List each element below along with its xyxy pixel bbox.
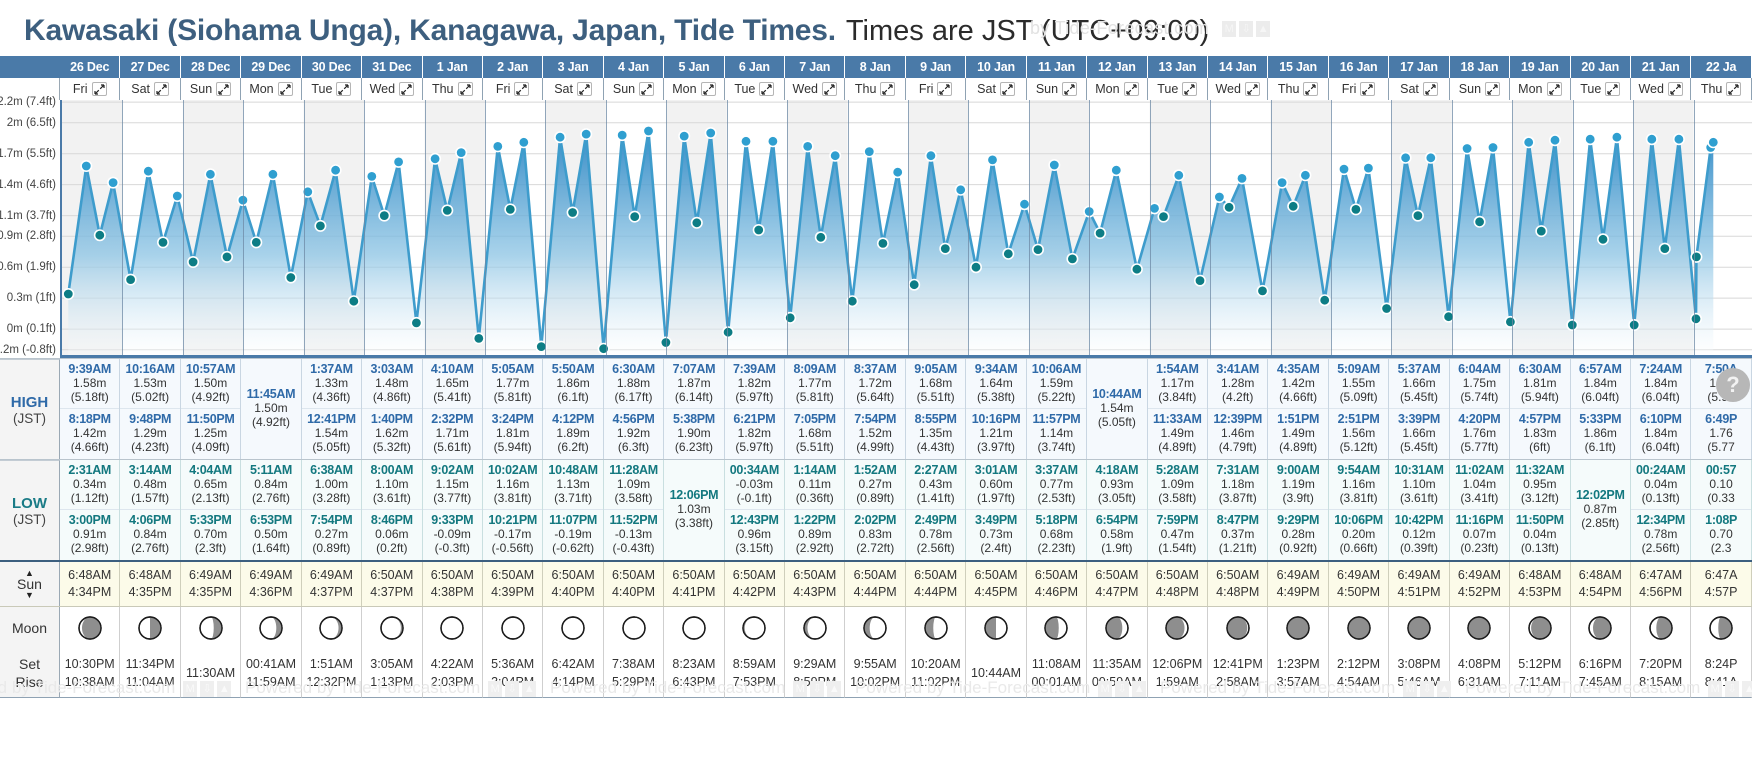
moon-set-rise-cell-0: 10:30PM10:38AM <box>60 648 120 698</box>
date-header-16[interactable]: 11 Jan <box>1027 56 1087 78</box>
date-header-18[interactable]: 13 Jan <box>1148 56 1208 78</box>
moonset-time: 9:55AM <box>854 655 897 673</box>
moonset-time: 10:30PM <box>65 655 115 673</box>
sunset-time: 4:41PM <box>672 584 715 601</box>
high-tide-height-m: 1.49m <box>1268 426 1327 440</box>
low-tide-time: 10:02AM <box>483 463 542 477</box>
moon-phase-icon-4 <box>318 615 344 641</box>
sunrise-time: 6:49AM <box>1277 567 1320 584</box>
low-tide-height-ft: (2.76ft) <box>241 491 300 505</box>
moon-phase-cell-9 <box>604 607 664 648</box>
expand-icon-13[interactable] <box>880 82 895 96</box>
high-tide-cell-23: 6:04AM1.75m(5.74ft)4:20PM1.76m(5.77ft) <box>1450 359 1510 459</box>
low-tide-cell-3: 5:11AM0.84m(2.76ft)6:53PM0.50m(1.64ft) <box>241 460 301 560</box>
expand-icon-24[interactable] <box>1547 82 1562 96</box>
low-tide-time: 5:11AM <box>241 463 300 477</box>
sun-cell-8: 6:50AM4:40PM <box>543 562 603 606</box>
moonrise-time: 2:58AM <box>1216 673 1259 691</box>
low-tide-height-ft: (0.13ft) <box>1510 541 1569 555</box>
high-tide-event-13-0: 8:37AM1.72m(5.64ft) <box>845 361 904 406</box>
date-header-6[interactable]: 1 Jan <box>423 56 483 78</box>
expand-icon-4[interactable] <box>336 82 351 96</box>
low-tide-height-ft: (0.66ft) <box>1329 541 1388 555</box>
low-tide-event-8-1: 11:07PM-0.19m(-0.62ft) <box>543 509 602 557</box>
date-header-1[interactable]: 27 Dec <box>120 56 180 78</box>
y-axis-tick-6: 0.6m (1.9ft) <box>0 261 56 273</box>
moon-set-rise-cell-17: 11:35AM00:59AM <box>1087 648 1147 698</box>
high-tide-event-22-1: 3:39PM1.66m(5.45ft) <box>1389 408 1448 456</box>
expand-icon-23[interactable] <box>1485 82 1500 96</box>
expand-icon-8[interactable] <box>577 82 592 96</box>
high-tide-height-m: 1.21m <box>966 426 1025 440</box>
high-tide-height-m: 1.54m <box>1087 401 1146 415</box>
expand-icon-15[interactable] <box>1000 82 1015 96</box>
sun-cell-13: 6:50AM4:44PM <box>845 562 905 606</box>
low-tide-height-ft: (2.23ft) <box>1027 541 1086 555</box>
tide-chart-page: Kawasaki (Siohama Unga), Kanagawa, Japan… <box>0 0 1752 780</box>
moonrise-time: 5:29PM <box>612 673 655 691</box>
y-axis-tick-3: 1.4m (4.6ft) <box>0 179 56 191</box>
expand-icon-16[interactable] <box>1062 82 1077 96</box>
sunrise-time: 6:48AM <box>1518 567 1561 584</box>
tide-grid: 26 Dec27 Dec28 Dec29 Dec30 Dec31 Dec1 Ja… <box>0 56 1752 698</box>
date-header-3[interactable]: 29 Dec <box>241 56 301 78</box>
high-tide-time: 11:50PM <box>181 412 240 426</box>
moon-set-rise-cell-2: 11:30AM <box>181 648 241 698</box>
sunset-time: 4:35PM <box>129 584 172 601</box>
date-header-12[interactable]: 7 Jan <box>785 56 845 78</box>
weekday-cell-25: Tue <box>1571 78 1631 100</box>
low-tide-height-ft: (2.72ft) <box>845 541 904 555</box>
low-tide-height-m: 0.37m <box>1208 527 1267 541</box>
tide-graph[interactable] <box>60 100 1752 358</box>
expand-icon-18[interactable] <box>1182 82 1197 96</box>
low-tide-event-7-1: 10:21PM-0.17m(-0.56ft) <box>483 509 542 557</box>
high-tide-height-m: 1.81m <box>1510 376 1569 390</box>
date-header-20[interactable]: 15 Jan <box>1268 56 1328 78</box>
high-tide-event-5-0: 3:03AM1.48m(4.86ft) <box>362 361 421 406</box>
high-tide-height-ft: (4.36ft) <box>302 390 361 404</box>
weekday-label-14: Fri <box>919 78 934 100</box>
date-header-13[interactable]: 8 Jan <box>845 56 905 78</box>
sun-cell-2: 6:49AM4:35PM <box>181 562 241 606</box>
day-separator-27 <box>1694 100 1695 355</box>
low-tide-event-9-0: 11:28AM1.09m(3.58ft) <box>604 462 663 507</box>
y-axis: 2.2m (7.4ft)2m (6.5ft)1.7m (5.5ft)1.4m (… <box>0 100 60 358</box>
low-tide-cell-11: 00:34AM-0.03m(-0.1ft)12:43PM0.96m(3.15ft… <box>725 460 785 560</box>
help-icon[interactable]: ? <box>1716 368 1750 402</box>
date-header-17[interactable]: 12 Jan <box>1087 56 1147 78</box>
expand-icon-0[interactable] <box>92 82 107 96</box>
expand-icon-3[interactable] <box>278 82 293 96</box>
day-separator-26 <box>1633 100 1634 355</box>
high-tide-height-ft: (5.94ft) <box>483 440 542 454</box>
watermark-icon-2: ⇩ <box>1239 21 1253 37</box>
low-tide-label-tz: (JST) <box>13 512 46 527</box>
low-tide-time: 5:18PM <box>1027 513 1086 527</box>
low-tide-height-m: 0.11m <box>785 477 844 491</box>
weekday-cell-6: Thu <box>423 78 483 100</box>
date-header-row: 26 Dec27 Dec28 Dec29 Dec30 Dec31 Dec1 Ja… <box>0 56 1752 78</box>
weekday-cell-12: Wed <box>785 78 845 100</box>
high-tide-label-tz: (JST) <box>13 411 46 426</box>
high-tide-event-21-1: 2:51PM1.56m(5.12ft) <box>1329 408 1388 456</box>
low-tide-height-m: -0.13m <box>604 527 663 541</box>
moon-label: Moon <box>0 607 60 648</box>
moonset-time: 12:06PM <box>1152 655 1202 673</box>
y-axis-tick-0: 2.2m (7.4ft) <box>0 96 56 108</box>
date-header-26[interactable]: 21 Jan <box>1631 56 1691 78</box>
weekday-label-5: Wed <box>370 78 395 100</box>
date-header-25[interactable]: 20 Jan <box>1571 56 1631 78</box>
weekday-cell-4: Tue <box>302 78 362 100</box>
high-tide-time: 3:24PM <box>483 412 542 426</box>
high-tide-height-ft: (6.3ft) <box>604 440 663 454</box>
moon-phase-icon-17 <box>1104 615 1130 641</box>
sunset-time: 4:40PM <box>612 584 655 601</box>
low-tide-event-24-1: 11:50PM0.04m(0.13ft) <box>1510 509 1569 557</box>
low-tide-height-ft: (-0.56ft) <box>483 541 542 555</box>
low-tide-height-m: 0.84m <box>241 477 300 491</box>
low-tide-event-0-0: 2:31AM0.34m(1.12ft) <box>60 462 119 507</box>
expand-icon-11[interactable] <box>759 82 774 96</box>
high-tide-height-m: 1.88m <box>604 376 663 390</box>
day-separator-18 <box>1150 100 1151 355</box>
low-tide-cell-9: 11:28AM1.09m(3.58ft)11:52PM-0.13m(-0.43f… <box>604 460 664 560</box>
moonset-time: 7:20PM <box>1639 655 1682 673</box>
weekday-label-3: Mon <box>249 78 273 100</box>
low-tide-height-ft: (3.38ft) <box>664 516 723 530</box>
moon-set-label: Set <box>19 655 40 673</box>
sunrise-time: 6:48AM <box>1579 567 1622 584</box>
high-tide-time: 2:32PM <box>423 412 482 426</box>
weekday-label-27: Thu <box>1701 78 1723 100</box>
moon-set-rise-cell-1: 11:34PM11:04AM <box>120 648 180 698</box>
high-tide-cell-21: 5:09AM1.55m(5.09ft)2:51PM1.56m(5.12ft) <box>1329 359 1389 459</box>
date-header-9[interactable]: 4 Jan <box>604 56 664 78</box>
low-tide-time: 10:06PM <box>1329 513 1388 527</box>
high-tide-event-19-1: 12:39PM1.46m(4.79ft) <box>1208 408 1267 456</box>
moon-phase-cell-4 <box>302 607 362 648</box>
moonrise-time: 2:03PM <box>431 673 474 691</box>
sun-cells: 6:48AM4:34PM6:48AM4:35PM6:49AM4:35PM6:49… <box>60 562 1752 606</box>
low-tide-height-m: 0.07m <box>1450 527 1509 541</box>
date-header-7[interactable]: 2 Jan <box>483 56 543 78</box>
moon-set-rise-cell-22: 3:08PM5:46AM <box>1389 648 1449 698</box>
weekday-label-2: Sun <box>190 78 212 100</box>
sunrise-time: 6:49AM <box>1458 567 1501 584</box>
low-tide-height-m: 0.34m <box>60 477 119 491</box>
low-tide-cell-4: 6:38AM1.00m(3.28ft)7:54PM0.27m(0.89ft) <box>302 460 362 560</box>
weekday-label-24: Mon <box>1518 78 1542 100</box>
low-tide-event-22-0: 10:31AM1.10m(3.61ft) <box>1389 462 1448 507</box>
high-tide-event-8-0: 5:50AM1.86m(6.1ft) <box>543 361 602 406</box>
high-tide-cell-24: 6:30AM1.81m(5.94ft)4:57PM1.83m(6ft) <box>1510 359 1570 459</box>
high-tide-time: 7:54PM <box>845 412 904 426</box>
day-separator-4 <box>304 100 305 355</box>
high-tide-event-10-0: 7:07AM1.87m(6.14ft) <box>664 361 723 406</box>
expand-icon-22[interactable] <box>1423 82 1438 96</box>
day-separator-22 <box>1391 100 1392 355</box>
sun-cell-15: 6:50AM4:45PM <box>966 562 1026 606</box>
low-tide-time: 9:29PM <box>1268 513 1327 527</box>
weekday-row: FriSatSunMonTueWedThuFriSatSunMonTueWedT… <box>0 78 1752 100</box>
expand-icon-17[interactable] <box>1124 82 1139 96</box>
low-tide-event-6-1: 9:33PM-0.09m(-0.3ft) <box>423 509 482 557</box>
moon-phase-icon-23 <box>1466 615 1492 641</box>
weekday-cells: FriSatSunMonTueWedThuFriSatSunMonTueWedT… <box>60 78 1752 100</box>
expand-icon-9[interactable] <box>639 82 654 96</box>
moon-set-rise-cell-19: 12:41PM2:58AM <box>1208 648 1268 698</box>
low-tide-time: 6:38AM <box>302 463 361 477</box>
moon-set-rise-cell-3: 00:41AM11:59AM <box>241 648 301 698</box>
low-tide-height-ft: (1.57ft) <box>120 491 179 505</box>
high-tide-height-m: 1.89m <box>543 426 602 440</box>
weekday-cell-9: Sun <box>604 78 664 100</box>
low-tide-event-26-1: 12:34PM0.78m(2.56ft) <box>1631 509 1690 557</box>
high-tide-row: HIGH (JST) 9:39AM1.58m(5.18ft)8:18PM1.42… <box>0 358 1752 459</box>
moon-phase-icon-27 <box>1708 615 1734 641</box>
high-tide-time: 1:54AM <box>1148 362 1207 376</box>
sunset-time: 4:44PM <box>914 584 957 601</box>
expand-icon-2[interactable] <box>216 82 231 96</box>
weekday-label-16: Sun <box>1036 78 1058 100</box>
high-tide-height-m: 1.50m <box>181 376 240 390</box>
high-tide-height-m: 1.52m <box>845 426 904 440</box>
low-tide-cell-12: 1:14AM0.11m(0.36ft)1:22PM0.89m(2.92ft) <box>785 460 845 560</box>
expand-icon-21[interactable] <box>1360 82 1375 96</box>
low-tide-height-m: 0.78m <box>1631 527 1690 541</box>
moonset-time: 9:29AM <box>793 655 836 673</box>
low-tide-event-12-0: 1:14AM0.11m(0.36ft) <box>785 462 844 507</box>
low-tide-height-ft: (3.58ft) <box>604 491 663 505</box>
y-axis-tick-2: 1.7m (5.5ft) <box>0 148 56 160</box>
low-tide-height-ft: (0.36ft) <box>785 491 844 505</box>
expand-icon-5[interactable] <box>399 82 414 96</box>
sun-cell-6: 6:50AM4:38PM <box>423 562 483 606</box>
date-header-2[interactable]: 28 Dec <box>181 56 241 78</box>
high-tide-cell-9: 6:30AM1.88m(6.17ft)4:56PM1.92m(6.3ft) <box>604 359 664 459</box>
low-tide-cell-5: 8:00AM1.10m(3.61ft)8:46PM0.06m(0.2ft) <box>362 460 422 560</box>
sun-cell-0: 6:48AM4:34PM <box>60 562 120 606</box>
date-header-5[interactable]: 31 Dec <box>362 56 422 78</box>
sunset-time: 4:37PM <box>310 584 353 601</box>
moon-set-rise-cell-15: 10:44AM <box>966 648 1026 698</box>
high-tide-event-22-0: 5:37AM1.66m(5.45ft) <box>1389 361 1448 406</box>
low-tide-time: 10:42PM <box>1389 513 1448 527</box>
moon-phase-cell-19 <box>1208 607 1268 648</box>
sun-cell-10: 6:50AM4:41PM <box>664 562 724 606</box>
high-tide-event-4-1: 12:41PM1.54m(5.05ft) <box>302 408 361 456</box>
low-tide-height-ft: (3.58ft) <box>1148 491 1207 505</box>
low-tide-time: 3:00PM <box>60 513 119 527</box>
moonrise-time: 4:14PM <box>552 673 595 691</box>
low-tide-time: 5:28AM <box>1148 463 1207 477</box>
expand-icon-6[interactable] <box>458 82 473 96</box>
high-tide-height-m: 1.42m <box>1268 376 1327 390</box>
moonset-time: 7:38AM <box>612 655 655 673</box>
low-tide-event-9-1: 11:52PM-0.13m(-0.43ft) <box>604 509 663 557</box>
expand-icon-20[interactable] <box>1303 82 1318 96</box>
high-tide-time: 8:37AM <box>845 362 904 376</box>
expand-icon-27[interactable] <box>1726 82 1741 96</box>
low-tide-event-15-0: 3:01AM0.60m(1.97ft) <box>966 462 1025 507</box>
high-tide-height-ft: (4.66ft) <box>1268 390 1327 404</box>
date-header-4[interactable]: 30 Dec <box>302 56 362 78</box>
high-tide-time: 7:39AM <box>725 362 784 376</box>
low-tide-height-m: 0.27m <box>302 527 361 541</box>
sunrise-time: 6:50AM <box>491 567 534 584</box>
low-tide-height-ft: (2.53ft) <box>1027 491 1086 505</box>
weekday-cell-1: Sat <box>120 78 180 100</box>
sunset-time: 4:43PM <box>793 584 836 601</box>
high-tide-time: 9:39AM <box>60 362 119 376</box>
weekday-cell-22: Sat <box>1389 78 1449 100</box>
low-tide-cell-23: 11:02AM1.04m(3.41ft)11:16PM0.07m(0.23ft) <box>1450 460 1510 560</box>
date-header-23[interactable]: 18 Jan <box>1450 56 1510 78</box>
date-header-19[interactable]: 14 Jan <box>1208 56 1268 78</box>
high-tide-height-m: 1.77m <box>483 376 542 390</box>
high-tide-event-13-1: 7:54PM1.52m(4.99ft) <box>845 408 904 456</box>
low-tide-height-ft: (0.92ft) <box>1268 541 1327 555</box>
date-header-8[interactable]: 3 Jan <box>543 56 603 78</box>
low-tide-height-ft: (1.9ft) <box>1087 541 1146 555</box>
low-tide-height-m: 0.73m <box>966 527 1025 541</box>
expand-icon-19[interactable] <box>1245 82 1260 96</box>
weekday-cell-24: Mon <box>1510 78 1570 100</box>
high-tide-event-26-1: 6:10PM1.84m(6.04ft) <box>1631 408 1690 456</box>
low-tide-time: 11:07PM <box>543 513 602 527</box>
watermark-icon-3: ▲ <box>1256 21 1270 37</box>
high-tide-height-ft: (5.61ft) <box>423 440 482 454</box>
low-tide-height-m: 0.47m <box>1148 527 1207 541</box>
moonset-time: 11:08AM <box>1032 655 1081 673</box>
high-tide-height-ft: (6ft) <box>1510 440 1569 454</box>
expand-icon-12[interactable] <box>822 82 837 96</box>
high-tide-cell-4: 1:37AM1.33m(4.36ft)12:41PM1.54m(5.05ft) <box>302 359 362 459</box>
sunrise-time: 6:50AM <box>552 567 595 584</box>
expand-icon-7[interactable] <box>514 82 529 96</box>
date-header-15[interactable]: 10 Jan <box>966 56 1026 78</box>
high-tide-height-ft: (5.12ft) <box>1329 440 1388 454</box>
expand-icon-10[interactable] <box>701 82 716 96</box>
high-tide-height-ft: (4.89ft) <box>1268 440 1327 454</box>
high-tide-height-ft: (3.74ft) <box>1027 440 1086 454</box>
moon-phase-cell-11 <box>725 607 785 648</box>
low-tide-height-ft: (3.41ft) <box>1450 491 1509 505</box>
moon-phase-row: Moon <box>0 606 1752 648</box>
sunset-time: 4:54PM <box>1579 584 1622 601</box>
date-header-11[interactable]: 6 Jan <box>725 56 785 78</box>
high-tide-height-m: 1.29m <box>120 426 179 440</box>
sun-cell-23: 6:49AM4:52PM <box>1450 562 1510 606</box>
high-tide-time: 1:37AM <box>302 362 361 376</box>
high-tide-cell-15: 9:34AM1.64m(5.38ft)10:16PM1.21m(3.97ft) <box>966 359 1026 459</box>
high-tide-cell-17: 10:44AM1.54m(5.05ft) <box>1087 359 1147 459</box>
moon-phase-icon-19 <box>1225 615 1251 641</box>
low-tide-height-ft: (0.33 <box>1691 491 1750 505</box>
low-tide-time: 8:00AM <box>362 463 421 477</box>
low-tide-time: 1:08P <box>1691 513 1750 527</box>
high-tide-time: 10:57AM <box>181 362 240 376</box>
high-tide-height-m: 1.54m <box>302 426 361 440</box>
expand-icon-25[interactable] <box>1605 82 1620 96</box>
expand-icon-1[interactable] <box>154 82 169 96</box>
moonrise-time: 11:02PM <box>911 673 960 691</box>
date-header-27[interactable]: 22 Ja <box>1691 56 1751 78</box>
high-tide-time: 1:51PM <box>1268 412 1327 426</box>
page-title: Kawasaki (Siohama Unga), Kanagawa, Japan… <box>24 14 836 48</box>
weekday-label-12: Wed <box>793 78 818 100</box>
date-header-22[interactable]: 17 Jan <box>1389 56 1449 78</box>
low-tide-time: 10:31AM <box>1389 463 1448 477</box>
low-tide-height-ft: (1.64ft) <box>241 541 300 555</box>
high-tide-height-m: 1.82m <box>725 426 784 440</box>
high-tide-height-m: 1.42m <box>60 426 119 440</box>
high-tide-cell-20: 4:35AM1.42m(4.66ft)1:51PM1.49m(4.89ft) <box>1268 359 1328 459</box>
sun-label: ▲ Sun ▼ <box>0 562 60 606</box>
low-tide-row: LOW (JST) 2:31AM0.34m(1.12ft)3:00PM0.91m… <box>0 459 1752 560</box>
low-tide-event-10-0: 12:06PM1.03m(3.38ft) <box>664 487 723 532</box>
high-tide-height-m: 1.82m <box>725 376 784 390</box>
high-tide-event-10-1: 5:38PM1.90m(6.23ft) <box>664 408 723 456</box>
weekday-cell-27: Thu <box>1691 78 1751 100</box>
low-tide-height-ft: (-0.3ft) <box>423 541 482 555</box>
moonset-time: 4:22AM <box>431 655 474 673</box>
high-tide-height-ft: (4.09ft) <box>181 440 240 454</box>
weekday-cell-8: Sat <box>543 78 603 100</box>
moonset-time: 10:20AM <box>911 655 961 673</box>
low-tide-height-m: 0.65m <box>181 477 240 491</box>
weekday-cell-15: Sat <box>966 78 1026 100</box>
sunset-time: 4:47PM <box>1095 584 1138 601</box>
high-tide-event-11-0: 7:39AM1.82m(5.97ft) <box>725 361 784 406</box>
low-tide-height-ft: (2.13ft) <box>181 491 240 505</box>
low-tide-event-5-0: 8:00AM1.10m(3.61ft) <box>362 462 421 507</box>
moon-phase-cell-25 <box>1571 607 1631 648</box>
low-tide-height-ft: (2.3 <box>1691 541 1750 555</box>
date-header-10[interactable]: 5 Jan <box>664 56 724 78</box>
high-tide-height-ft: (5.77ft) <box>1450 440 1509 454</box>
low-tide-time: 3:49PM <box>966 513 1025 527</box>
date-header-0[interactable]: 26 Dec <box>60 56 120 78</box>
low-tide-height-ft: (1.97ft) <box>966 491 1025 505</box>
high-tide-height-m: 1.50m <box>241 401 300 415</box>
low-tide-time: 9:02AM <box>423 463 482 477</box>
high-tide-event-9-0: 6:30AM1.88m(6.17ft) <box>604 361 663 406</box>
expand-icon-14[interactable] <box>937 82 952 96</box>
y-axis-tick-1: 2m (6.5ft) <box>7 117 56 129</box>
high-tide-event-24-1: 4:57PM1.83m(6ft) <box>1510 408 1569 456</box>
date-header-21[interactable]: 16 Jan <box>1329 56 1389 78</box>
moon-phase-icon-2 <box>198 615 224 641</box>
date-row-corner <box>0 56 60 78</box>
sunrise-time: 6:50AM <box>854 567 897 584</box>
sunset-time: 4:34PM <box>68 584 111 601</box>
high-tide-cell-8: 5:50AM1.86m(6.1ft)4:12PM1.89m(6.2ft) <box>543 359 603 459</box>
expand-icon-26[interactable] <box>1668 82 1683 96</box>
low-tide-height-ft: (1.12ft) <box>60 491 119 505</box>
date-header-24[interactable]: 19 Jan <box>1510 56 1570 78</box>
low-tide-event-8-0: 10:48AM1.13m(3.71ft) <box>543 462 602 507</box>
moon-set-rise-cell-8: 6:42AM4:14PM <box>543 648 603 698</box>
moonset-time: 2:12PM <box>1337 655 1380 673</box>
sun-cell-3: 6:49AM4:36PM <box>241 562 301 606</box>
high-tide-height-m: 1.25m <box>181 426 240 440</box>
date-header-14[interactable]: 9 Jan <box>906 56 966 78</box>
weekday-label-20: Thu <box>1278 78 1300 100</box>
high-tide-height-ft: (4.99ft) <box>845 440 904 454</box>
